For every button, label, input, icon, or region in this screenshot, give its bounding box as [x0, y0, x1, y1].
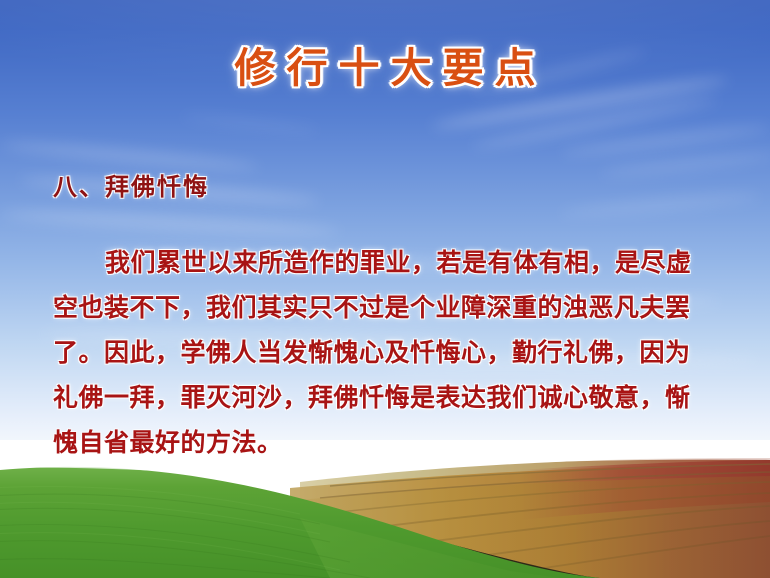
slide-content: 修行十大要点 八、拜佛忏悔 我们累世以来所造作的罪业，若是有体有相，是尽虚 空也… [0, 0, 770, 578]
body-text-block: 我们累世以来所造作的罪业，若是有体有相，是尽虚 空也装不下，我们其实只不过是个业… [53, 240, 753, 465]
body-line: 我们累世以来所造作的罪业，若是有体有相，是尽虚 [53, 240, 753, 285]
section-heading: 八、拜佛忏悔 [53, 167, 209, 202]
body-line: 愧自省最好的方法。 [53, 420, 753, 465]
body-line: 礼佛一拜，罪灭河沙，拜佛忏悔是表达我们诚心敬意，惭 [53, 375, 753, 420]
slide-title: 修行十大要点 [0, 34, 770, 94]
body-line: 了。因此，学佛人当发惭愧心及忏悔心，勤行礼佛，因为 [53, 330, 753, 375]
body-line: 空也装不下，我们其实只不过是个业障深重的浊恶凡夫罢 [53, 285, 753, 330]
presentation-slide: 修行十大要点 八、拜佛忏悔 我们累世以来所造作的罪业，若是有体有相，是尽虚 空也… [0, 0, 770, 578]
